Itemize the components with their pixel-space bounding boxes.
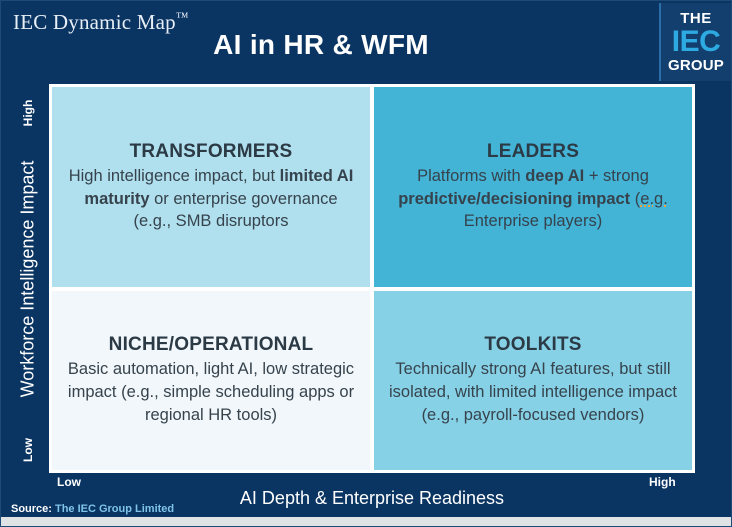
text-segment: + strong: [584, 167, 649, 185]
text-segment: High intelligence impact, but: [69, 167, 280, 185]
text-segment: or enterprise governance (e.g., SMB disr…: [134, 190, 338, 231]
y-axis-high-label: High: [21, 100, 35, 127]
y-axis-low-label: Low: [21, 438, 35, 462]
trademark-symbol: ™: [176, 9, 189, 24]
quadrant-transformers[interactable]: TRANSFORMERS High intelligence impact, b…: [52, 87, 370, 287]
x-axis-high-label: High: [649, 475, 676, 489]
quadrant-matrix: TRANSFORMERS High intelligence impact, b…: [49, 84, 695, 473]
logo-line-iec: IEC: [672, 27, 721, 57]
quadrant-transformers-body: High intelligence impact, but limited AI…: [66, 165, 356, 233]
quadrant-niche-body: Basic automation, light AI, low strategi…: [66, 358, 356, 426]
text-segment-bold: predictive/decisioning impact: [398, 190, 630, 208]
source-label: Source:: [11, 503, 52, 515]
spellcheck-flagged-text: e.g.: [640, 190, 668, 208]
quadrant-toolkits[interactable]: TOOLKITS Technically strong AI features,…: [374, 291, 692, 470]
bottom-strip: [1, 517, 731, 526]
text-segment-bold: deep AI: [525, 167, 584, 185]
y-axis-title: Workforce Intelligence Impact: [18, 160, 39, 397]
page-title: AI in HR & WFM: [1, 29, 731, 61]
quadrant-leaders-body: Platforms with deep AI + strong predicti…: [388, 165, 678, 233]
logo-line-the: THE: [680, 11, 712, 26]
text-segment: Enterprise players): [464, 212, 602, 230]
iec-group-logo: THE IEC GROUP: [659, 3, 731, 81]
source-credit: Source:The IEC Group Limited: [11, 503, 174, 515]
slide-canvas: IEC Dynamic Map™ AI in HR & WFM THE IEC …: [0, 0, 732, 527]
logo-line-group: GROUP: [668, 58, 724, 73]
quadrant-leaders-title: LEADERS: [487, 141, 579, 163]
source-value: The IEC Group Limited: [55, 503, 174, 515]
quadrant-transformers-title: TRANSFORMERS: [130, 141, 293, 163]
quadrant-niche-operational[interactable]: NICHE/OPERATIONAL Basic automation, ligh…: [52, 291, 370, 470]
quadrant-niche-title: NICHE/OPERATIONAL: [109, 334, 314, 356]
quadrant-toolkits-body: Technically strong AI features, but stil…: [388, 358, 678, 426]
quadrant-leaders[interactable]: LEADERS Platforms with deep AI + strong …: [374, 87, 692, 287]
y-axis: High Workforce Intelligence Impact Low: [11, 84, 45, 473]
quadrant-toolkits-title: TOOLKITS: [484, 334, 581, 356]
text-segment: Platforms with: [417, 167, 525, 185]
x-axis-low-label: Low: [57, 475, 81, 489]
